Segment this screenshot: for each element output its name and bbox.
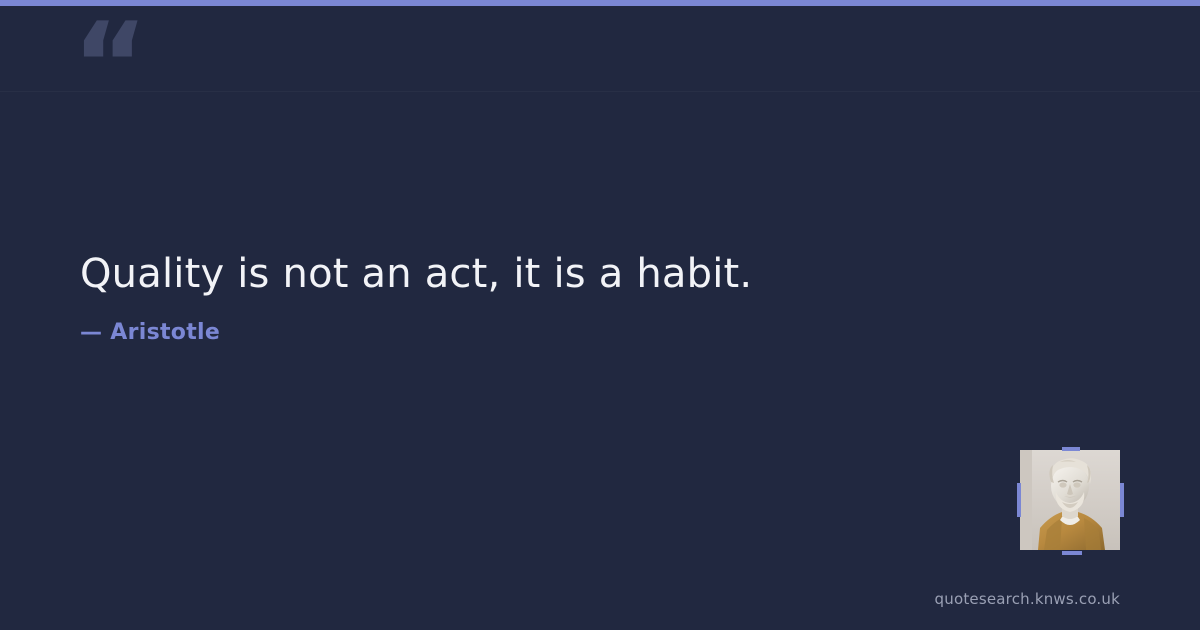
portrait-frame: [1020, 450, 1120, 550]
opening-quote-icon: “: [72, 8, 146, 124]
author-portrait[interactable]: [1020, 450, 1120, 550]
header-divider: [0, 91, 1200, 92]
site-watermark: quotesearch.knws.co.uk: [935, 590, 1120, 608]
aristotle-bust-image: [1020, 450, 1120, 550]
quote-content: Quality is not an act, it is a habit. — …: [80, 248, 980, 345]
selection-handle-right: [1120, 483, 1124, 517]
selection-handle-top: [1062, 447, 1080, 451]
selection-handle-left: [1017, 483, 1021, 517]
selection-handle-bottom: [1062, 551, 1082, 555]
quote-card: “ Quality is not an act, it is a habit. …: [0, 0, 1200, 630]
top-accent-bar: [0, 0, 1200, 6]
quote-text: Quality is not an act, it is a habit.: [80, 248, 980, 300]
quote-attribution: — Aristotle: [80, 320, 980, 345]
